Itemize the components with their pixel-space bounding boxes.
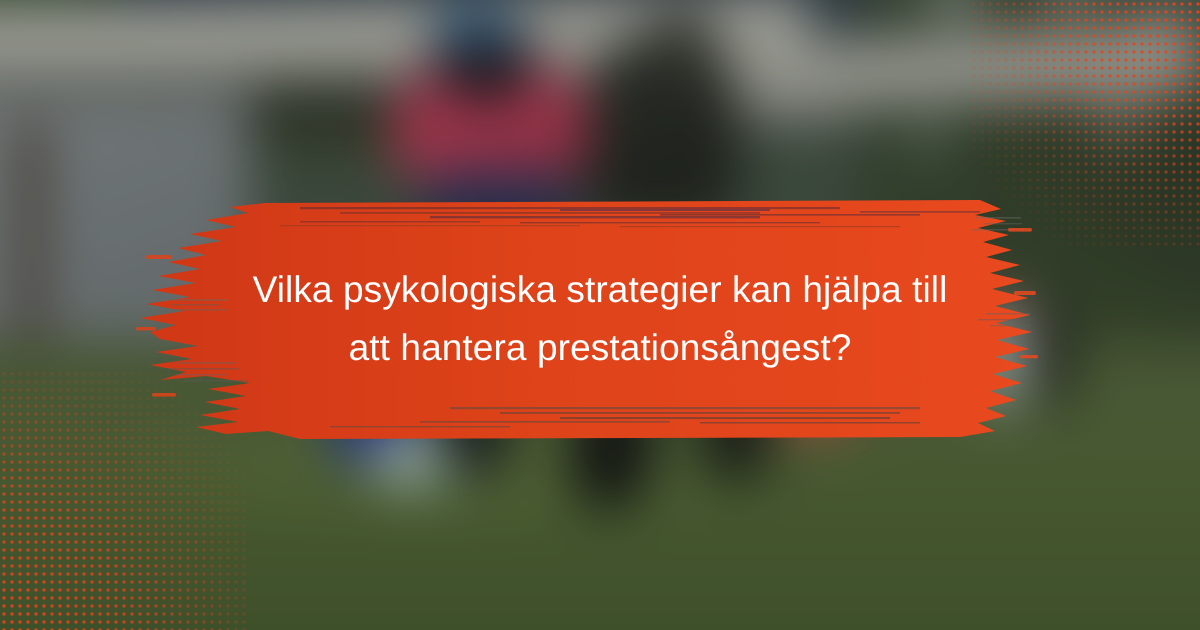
headline: Vilka psykologiska strategier kan hjälpa…	[0, 195, 1200, 443]
headline-line-2: att hantera prestationsångest?	[349, 320, 852, 376]
social-share-card: Vilka psykologiska strategier kan hjälpa…	[0, 0, 1200, 630]
headline-line-1: Vilka psykologiska strategier kan hjälpa…	[253, 262, 948, 318]
